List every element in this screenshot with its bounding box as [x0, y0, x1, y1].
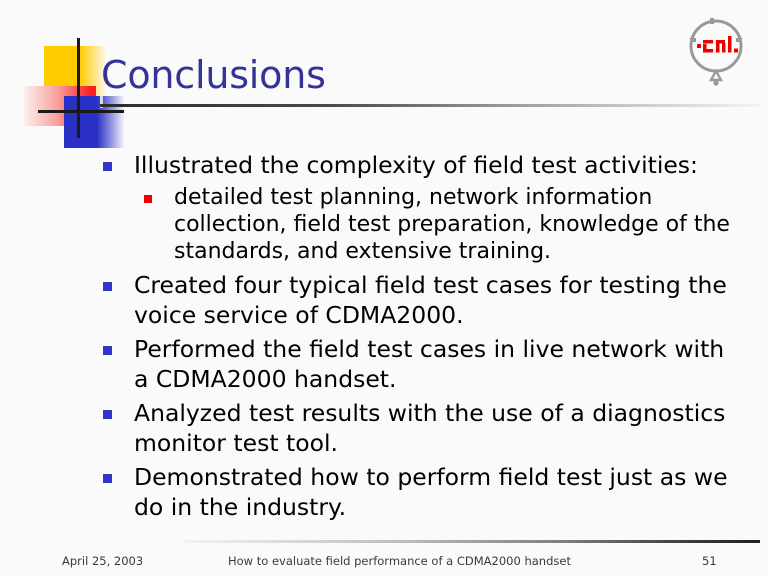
slide-body-list: Illustrated the complexity of field test… [96, 150, 736, 526]
slide-footer: April 25, 2003 How to evaluate field per… [0, 550, 768, 576]
list-item: Illustrated the complexity of field test… [96, 150, 736, 180]
list-item-text: Illustrated the complexity of field test… [134, 150, 736, 180]
list-item: Performed the field test cases in live n… [96, 334, 736, 394]
footer-page-number: 51 [702, 554, 717, 568]
list-item: detailed test planning, network informat… [96, 184, 736, 265]
bullet-marker-level1 [103, 474, 112, 483]
list-item: Created four typical field test cases fo… [96, 270, 736, 330]
list-item: Demonstrated how to perform field test j… [96, 462, 736, 522]
list-item: Analyzed test results with the use of a … [96, 398, 736, 458]
decoration-vertical-rule [77, 38, 80, 138]
page-title: Conclusions [101, 53, 326, 97]
list-item-text: Created four typical field test cases fo… [134, 270, 736, 330]
cnl-circle-logo [684, 14, 748, 92]
bullet-marker-level1 [103, 162, 112, 171]
decoration-horizontal-rule [38, 110, 124, 113]
list-item-text: Demonstrated how to perform field test j… [134, 462, 736, 522]
footer-rule [184, 540, 760, 543]
list-item-text: Performed the field test cases in live n… [134, 334, 736, 394]
bullet-marker-level1 [103, 282, 112, 291]
footer-date: April 25, 2003 [62, 554, 143, 568]
presentation-slide: Conclusions [0, 0, 768, 576]
list-item-text: detailed test planning, network informat… [174, 184, 736, 265]
cnl-wordmark-glyphs [697, 36, 738, 53]
footer-title: How to evaluate field performance of a C… [228, 554, 571, 568]
bullet-marker-level2 [144, 195, 152, 203]
bullet-marker-level1 [103, 346, 112, 355]
title-underline-rule [100, 104, 760, 107]
bullet-marker-level1 [103, 410, 112, 419]
list-item-text: Analyzed test results with the use of a … [134, 398, 736, 458]
